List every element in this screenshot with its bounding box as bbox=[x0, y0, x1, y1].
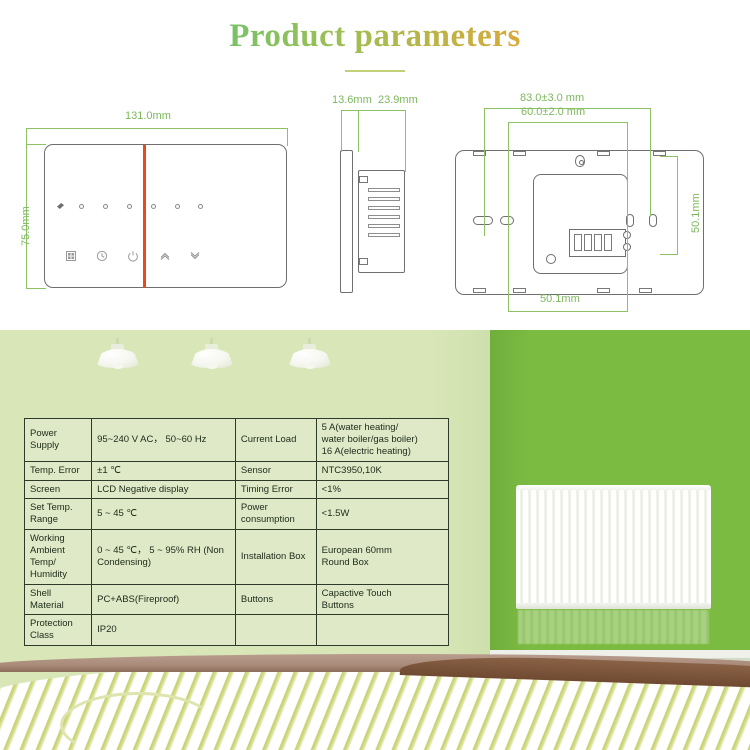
back-clip bbox=[473, 288, 486, 293]
pendant-lamp bbox=[288, 338, 332, 368]
spec-key: Timing Error bbox=[235, 480, 316, 499]
back-clip bbox=[513, 288, 526, 293]
back-dim-bottom-line bbox=[508, 311, 628, 312]
back-hole bbox=[546, 254, 556, 264]
indicator-dot bbox=[175, 204, 180, 209]
page-title: Product parameters bbox=[0, 18, 750, 55]
spec-value-line: European 60mm bbox=[322, 545, 443, 557]
front-height-tick-top bbox=[26, 144, 46, 145]
terminal-block bbox=[569, 229, 626, 257]
side-depth-front-label: 13.6mm bbox=[332, 94, 372, 106]
back-mount-slot bbox=[500, 216, 514, 225]
spec-value-line: Capactive Touch bbox=[322, 588, 443, 600]
side-view-fin bbox=[368, 188, 400, 192]
indicator-dot bbox=[103, 204, 108, 209]
back-dim-height-tick-top bbox=[660, 156, 678, 157]
back-clip bbox=[597, 288, 610, 293]
pendant-lamp bbox=[96, 338, 140, 368]
terminal-screw bbox=[594, 234, 602, 251]
back-width-outer-label: 83.0±3.0 mm bbox=[520, 92, 584, 104]
table-row: Working Ambient Temp/ Humidity 0 ~ 45 ℃，… bbox=[25, 530, 449, 585]
side-dim-tick-b bbox=[358, 110, 359, 152]
chevron-up-icon[interactable] bbox=[159, 250, 171, 262]
spec-key: Screen bbox=[25, 480, 92, 499]
front-height-label: 75.0mm bbox=[20, 206, 32, 246]
front-height-tick-bottom bbox=[26, 288, 46, 289]
back-dim-height-line bbox=[677, 156, 678, 254]
spec-table-body: Power Supply 95~240 V AC， 50~60 Hz Curre… bbox=[25, 419, 449, 646]
title-divider bbox=[345, 70, 405, 72]
back-height-label: 50.1mm bbox=[690, 193, 702, 233]
back-dim-tick-outer-left bbox=[484, 108, 485, 236]
spec-value: LCD Negative display bbox=[92, 480, 236, 499]
spec-value-line: 16 A(electric heating) bbox=[322, 446, 443, 458]
side-dim-line-b bbox=[358, 110, 406, 111]
side-view-tab bbox=[359, 258, 368, 265]
spec-value: Capactive Touch Buttons bbox=[316, 584, 448, 615]
back-dim-line-inner bbox=[508, 122, 628, 123]
specification-table: Power Supply 95~240 V AC， 50~60 Hz Curre… bbox=[24, 418, 449, 646]
side-dim-line-a bbox=[341, 110, 359, 111]
indicator-dot bbox=[79, 204, 84, 209]
spec-key: Sensor bbox=[235, 461, 316, 480]
spec-value-line: Round Box bbox=[322, 557, 443, 569]
floor-heating-illustration bbox=[0, 648, 750, 750]
back-clip bbox=[639, 288, 652, 293]
chevron-down-icon[interactable] bbox=[189, 250, 201, 262]
spec-value-line: water boiler/gas boiler) bbox=[322, 434, 443, 446]
back-dim-tick-inner-right bbox=[627, 122, 628, 312]
indicator-dot bbox=[127, 204, 132, 209]
radiator-columns bbox=[516, 490, 711, 608]
terminal-screw bbox=[574, 234, 582, 251]
spec-key: Temp. Error bbox=[25, 461, 92, 480]
side-view-fin bbox=[368, 215, 400, 219]
table-row: Power Supply 95~240 V AC， 50~60 Hz Curre… bbox=[25, 419, 449, 462]
clock-icon[interactable] bbox=[96, 250, 108, 262]
terminal-screw bbox=[604, 234, 612, 251]
terminal-screw bbox=[584, 234, 592, 251]
spec-value-line: 5 A(water heating/ bbox=[322, 422, 443, 434]
back-width-inner-label: 60.0±2.0 mm bbox=[521, 106, 585, 118]
spec-value: ±1 ℃ bbox=[92, 461, 236, 480]
back-view-group bbox=[440, 132, 720, 302]
back-screw-hole bbox=[575, 155, 585, 167]
lamp-bulb bbox=[113, 365, 123, 369]
back-bottom-label: 50.1mm bbox=[540, 293, 580, 305]
table-row: Temp. Error ±1 ℃ Sensor NTC3950,10K bbox=[25, 461, 449, 480]
side-view-fin bbox=[368, 233, 400, 237]
spec-key: Working Ambient Temp/ Humidity bbox=[25, 530, 92, 585]
back-dim-height-tick-bottom bbox=[660, 254, 678, 255]
front-width-tick-right bbox=[287, 128, 288, 146]
back-clip bbox=[513, 151, 526, 156]
technical-drawings-section: 131.0mm 75.0mm bbox=[0, 88, 750, 330]
spec-value: NTC3950,10K bbox=[316, 461, 448, 480]
table-row: Protection Class IP20 bbox=[25, 615, 449, 646]
front-view-body bbox=[44, 144, 287, 288]
power-icon[interactable] bbox=[127, 250, 139, 262]
radiator-bottom-rail bbox=[516, 603, 711, 609]
spec-value-line: Buttons bbox=[322, 600, 443, 612]
menu-icon[interactable] bbox=[65, 250, 77, 262]
spec-key: Protection Class bbox=[25, 615, 92, 646]
spec-value bbox=[316, 615, 448, 646]
spec-key: Set Temp. Range bbox=[25, 499, 92, 530]
spec-key: Shell Material bbox=[25, 584, 92, 615]
indicator-dot bbox=[151, 204, 156, 209]
spec-value: European 60mm Round Box bbox=[316, 530, 448, 585]
pendant-lamp bbox=[190, 338, 234, 368]
indicator-dot bbox=[198, 204, 203, 209]
lamp-bulb bbox=[207, 365, 217, 369]
indicator-marker-icon bbox=[57, 203, 64, 209]
spec-key: Power Supply bbox=[25, 419, 92, 462]
touch-button-row bbox=[65, 250, 195, 266]
spec-value: <1.5W bbox=[316, 499, 448, 530]
spec-key: Buttons bbox=[235, 584, 316, 615]
front-width-dimline bbox=[26, 128, 288, 129]
side-view-tab bbox=[359, 176, 368, 183]
side-dim-tick-a bbox=[341, 110, 342, 152]
floor-heating-cable-loop bbox=[60, 692, 216, 750]
back-clip bbox=[597, 151, 610, 156]
side-view-fin bbox=[368, 206, 400, 210]
front-view-accent-line bbox=[143, 145, 146, 288]
side-view-fin bbox=[368, 197, 400, 201]
side-view-faceplate bbox=[340, 150, 353, 293]
table-row: Shell Material PC+ABS(Fireproof) Buttons… bbox=[25, 584, 449, 615]
side-depth-body-label: 23.9mm bbox=[378, 94, 418, 106]
radiator-reflection bbox=[518, 610, 709, 644]
side-view-fin bbox=[368, 224, 400, 228]
spec-value: <1% bbox=[316, 480, 448, 499]
front-width-label: 131.0mm bbox=[125, 110, 171, 122]
spec-value: IP20 bbox=[92, 615, 236, 646]
spec-key bbox=[235, 615, 316, 646]
spec-value: 5 ~ 45 ℃ bbox=[92, 499, 236, 530]
indicator-dots-row bbox=[57, 202, 202, 212]
back-mount-slot bbox=[473, 216, 493, 225]
spec-value: PC+ABS(Fireproof) bbox=[92, 584, 236, 615]
spec-key: Installation Box bbox=[235, 530, 316, 585]
table-row: Screen LCD Negative display Timing Error… bbox=[25, 480, 449, 499]
spec-value: 0 ~ 45 ℃， 5 ~ 95% RH (Non Condensing) bbox=[92, 530, 236, 585]
spec-key: Power consumption bbox=[235, 499, 316, 530]
side-dim-tick-c bbox=[405, 110, 406, 172]
spec-value: 95~240 V AC， 50~60 Hz bbox=[92, 419, 236, 462]
radiator bbox=[516, 485, 711, 615]
spec-value: 5 A(water heating/ water boiler/gas boil… bbox=[316, 419, 448, 462]
spec-key: Current Load bbox=[235, 419, 316, 462]
back-dim-tick-outer-right bbox=[650, 108, 651, 216]
back-dim-tick-inner-left bbox=[508, 122, 509, 312]
table-row: Set Temp. Range 5 ~ 45 ℃ Power consumpti… bbox=[25, 499, 449, 530]
lamp-bulb bbox=[305, 365, 315, 369]
title-section: Product parameters bbox=[0, 0, 750, 90]
